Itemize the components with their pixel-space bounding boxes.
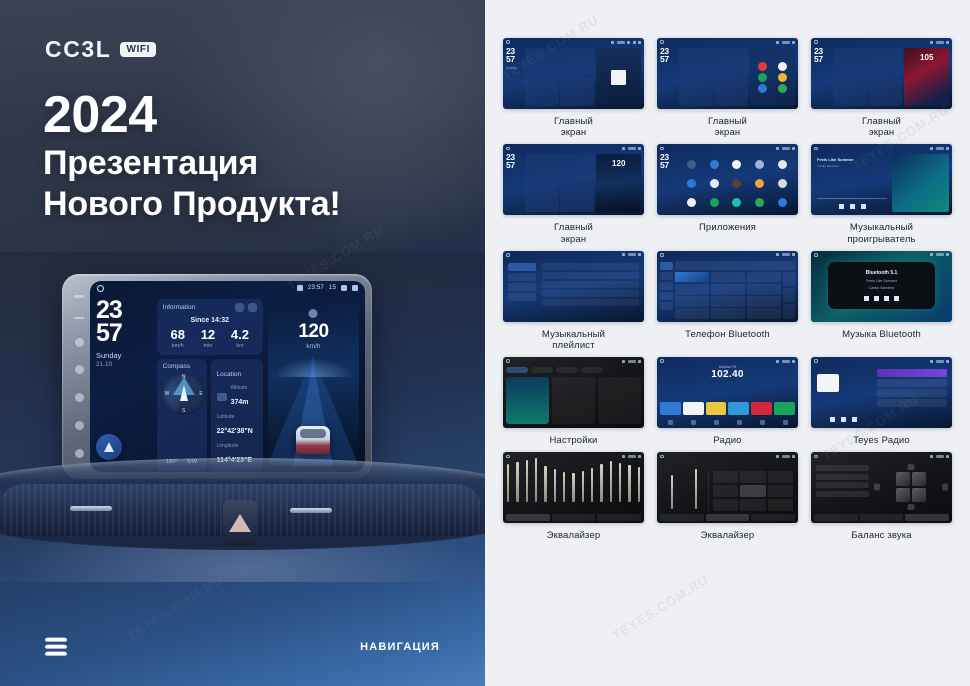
preset-5[interactable] — [751, 402, 772, 415]
thumbnail-home-drive-red[interactable]: 2357 105 — [811, 38, 952, 109]
preset-country[interactable] — [768, 499, 793, 511]
expand-icon[interactable] — [248, 303, 257, 312]
key-4[interactable] — [675, 284, 709, 295]
list-item[interactable] — [877, 389, 947, 397]
seat-rr[interactable] — [912, 488, 926, 502]
front-speaker-icon[interactable] — [907, 464, 914, 470]
music-player-icon[interactable] — [732, 198, 741, 207]
device-side-keys[interactable] — [69, 286, 89, 467]
thumbnail-radio[interactable]: Майами FM 102.40 — [657, 357, 798, 428]
compass-card — [833, 77, 867, 106]
mini-clock: 2357 — [660, 48, 677, 106]
store-icon[interactable] — [778, 73, 787, 82]
transport-controls[interactable] — [864, 296, 899, 301]
camera-icon[interactable] — [778, 160, 787, 169]
preset-6[interactable] — [774, 402, 795, 415]
brand-name: CC3L — [45, 36, 111, 63]
compass-card[interactable]: Compass N E S W — [157, 359, 207, 471]
key-3[interactable] — [747, 272, 781, 283]
browser-icon[interactable] — [778, 62, 787, 71]
gallery-item-label: Эквалайзер — [701, 530, 755, 541]
status-volume: 15 — [329, 285, 336, 291]
information-card-header: Information — [163, 303, 257, 312]
key-6[interactable] — [747, 284, 781, 295]
location-card[interactable]: Location Altitude 374m — [211, 359, 263, 471]
app-shortcuts[interactable] — [750, 48, 795, 106]
thumbnail-equalizer-presets[interactable] — [657, 452, 798, 523]
radio-presets[interactable] — [660, 402, 795, 415]
mini-body: 2357 — [657, 152, 798, 215]
settings-tabs[interactable] — [506, 367, 603, 373]
gallery-item[interactable]: Телефон Bluetooth — [657, 251, 798, 351]
thumbnail-playlist[interactable] — [503, 251, 644, 322]
eq-band[interactable] — [591, 468, 593, 502]
time-text — [782, 360, 790, 363]
thumbnail-home-drive[interactable]: 2357 120 — [503, 144, 644, 215]
preset-custom[interactable] — [740, 485, 765, 497]
gallery-item-label: Эквалайзер — [547, 530, 601, 541]
home-icon — [660, 40, 664, 44]
key-1[interactable] — [675, 272, 709, 283]
eq-band[interactable] — [516, 462, 518, 502]
information-card[interactable]: Information Since 14:32 68 — [157, 299, 263, 355]
home-icon — [814, 147, 818, 151]
chrome-icon[interactable] — [687, 179, 696, 188]
avin-icon[interactable] — [687, 160, 696, 169]
prev-key[interactable] — [75, 421, 84, 430]
gear-icon — [946, 147, 949, 150]
thumbnail-sound-balance[interactable] — [811, 452, 952, 523]
eq-band[interactable] — [526, 460, 528, 502]
refresh-icon[interactable] — [235, 303, 244, 312]
clock-widget[interactable]: 23 57 Sunday 21.10 — [96, 299, 152, 466]
station-list[interactable] — [875, 367, 949, 425]
radio-frequency: 102.40 — [657, 369, 798, 380]
time-text — [936, 455, 944, 458]
volume-down-key[interactable] — [74, 317, 84, 320]
gallery-item[interactable]: 2357Sunday Главный экран — [503, 38, 644, 138]
since-label: Since 14:32 — [163, 317, 257, 324]
phone-number-input[interactable] — [675, 261, 795, 270]
thumbnail-settings[interactable] — [503, 357, 644, 428]
compass-dial: N E S W — [163, 373, 205, 415]
list-item[interactable] — [877, 399, 947, 407]
transport-controls[interactable] — [817, 204, 887, 209]
bluetooth-icon[interactable] — [710, 160, 719, 169]
gear-icon — [792, 360, 795, 363]
tab-more[interactable] — [597, 514, 641, 521]
equalizer-tabs[interactable] — [506, 514, 641, 521]
filemanager-icon[interactable] — [755, 179, 764, 188]
thumbnail-home-apps[interactable]: 2357 — [657, 38, 798, 109]
tab-presets[interactable] — [706, 514, 750, 521]
home-icon — [506, 253, 510, 257]
thumbnail-equalizer[interactable] — [503, 452, 644, 523]
previous-icon[interactable] — [839, 204, 844, 209]
sidebar-item-albums[interactable] — [508, 273, 536, 281]
mini-widgets — [525, 154, 594, 212]
favorite-icon[interactable] — [783, 272, 795, 286]
location-card — [560, 77, 594, 106]
gear-icon — [946, 360, 949, 363]
thumbnail-home-media[interactable]: 2357Sunday — [503, 38, 644, 109]
seek-bar[interactable] — [817, 198, 887, 200]
key-star[interactable] — [675, 308, 709, 319]
pause-icon[interactable] — [850, 204, 855, 209]
balance-tabs[interactable] — [814, 514, 949, 521]
back-key[interactable] — [75, 393, 84, 402]
next-icon[interactable] — [894, 296, 899, 301]
preset-1[interactable] — [660, 402, 681, 415]
status-right-cluster: 23:57 15 — [297, 285, 358, 291]
more-card[interactable] — [598, 377, 641, 424]
eq-icon[interactable] — [737, 420, 742, 425]
gallery-item[interactable]: 2357 Главный экран — [657, 38, 798, 138]
thumbnail-bluetooth-phone[interactable] — [657, 251, 798, 322]
seat-fr[interactable] — [912, 472, 926, 486]
tab-balance[interactable] — [552, 514, 596, 521]
band-icon[interactable] — [668, 420, 673, 425]
home-icon — [506, 147, 510, 151]
car-3d-model — [296, 426, 330, 454]
sidebar-item-dialpad[interactable] — [660, 262, 673, 270]
key-9[interactable] — [747, 296, 781, 307]
location-card — [868, 77, 902, 106]
mini-widgets — [679, 48, 748, 106]
key-0[interactable] — [711, 308, 745, 319]
maps-icon[interactable] — [710, 198, 719, 207]
sidebar-item-tracks[interactable] — [508, 263, 536, 271]
gallery-item[interactable]: Bluetooth 5.1 Feels Like Summer Cardio S… — [811, 251, 952, 351]
speed-value: 120 — [268, 321, 359, 343]
altitude-label: Altitude — [231, 385, 249, 391]
compass-needle-icon — [180, 385, 188, 401]
preset-jazz[interactable] — [768, 471, 793, 483]
mini-status-bar — [811, 144, 952, 152]
wifi-icon — [622, 253, 625, 256]
status-icons — [622, 360, 641, 363]
gallery-item-label: Радио — [713, 435, 741, 446]
stop-icon[interactable] — [884, 296, 889, 301]
gallery-item-label: Телефон Bluetooth — [685, 329, 770, 340]
navigation-button[interactable] — [96, 434, 122, 460]
clock-date: 21.10 — [96, 361, 152, 368]
sidebar-item-search[interactable] — [660, 282, 673, 290]
gallery-item[interactable]: Музыкальный плейлист — [503, 251, 644, 351]
mini-status-bar — [811, 357, 952, 365]
gallery-item-label: Главный экран — [554, 222, 593, 244]
google-icon[interactable] — [687, 198, 696, 207]
contact-icon[interactable] — [710, 179, 719, 188]
wifi-icon — [930, 41, 933, 44]
equalizer-sliders[interactable] — [503, 452, 644, 511]
eq-band[interactable] — [582, 471, 584, 502]
gear-icon[interactable] — [341, 285, 347, 291]
right-speaker-icon[interactable] — [942, 484, 948, 491]
bluetooth-music-icon[interactable] — [732, 160, 741, 169]
rds-icon[interactable] — [760, 420, 765, 425]
information-actions[interactable] — [235, 303, 257, 312]
navigation-arrow-icon — [104, 442, 114, 452]
next-icon[interactable] — [852, 417, 857, 422]
search-icon[interactable] — [691, 420, 696, 425]
eq-band[interactable] — [554, 469, 556, 502]
mini-minutes: 57 — [814, 56, 831, 64]
headline-line-1: Презентация — [43, 143, 341, 184]
home-icon[interactable] — [97, 285, 104, 292]
key-hash[interactable] — [747, 308, 781, 319]
vent-slider-left[interactable] — [70, 506, 112, 511]
dialpad[interactable] — [675, 272, 781, 319]
mini-status-bar — [503, 38, 644, 46]
preset-pop[interactable] — [713, 471, 738, 483]
playlist-sidebar[interactable] — [506, 261, 538, 319]
fader-group[interactable] — [660, 470, 709, 512]
mini-status-bar — [503, 251, 644, 259]
mail-icon[interactable] — [758, 84, 767, 93]
tab-eq[interactable] — [660, 514, 704, 521]
next-icon[interactable] — [861, 204, 866, 209]
previous-icon[interactable] — [864, 296, 869, 301]
dvr-recorder-icon[interactable] — [732, 179, 741, 188]
phone-sidebar[interactable] — [660, 261, 673, 319]
tab-system[interactable] — [581, 367, 603, 373]
gear-icon — [633, 41, 636, 44]
seat-fl[interactable] — [896, 472, 910, 486]
thumbnail-music-player[interactable]: Feels Like Summer Cardio Sandrine — [811, 144, 952, 215]
social-icon[interactable] — [778, 198, 787, 207]
metric-distance-unit: km — [231, 343, 249, 349]
drive-assist-card: 105 — [904, 48, 949, 106]
gear-icon — [946, 253, 949, 256]
gallery-item[interactable]: Баланс звука — [811, 452, 952, 541]
wifi-icon — [930, 360, 933, 363]
power-key[interactable] — [75, 338, 84, 347]
call-icon[interactable] — [783, 304, 795, 318]
home-key[interactable] — [75, 365, 84, 374]
option-front[interactable] — [816, 465, 869, 471]
gallery-item[interactable]: Майами FM 102.40 Радио — [657, 357, 798, 446]
time-text — [936, 41, 944, 44]
seat-rl[interactable] — [896, 488, 910, 502]
rear-speaker-icon[interactable] — [907, 504, 914, 510]
youtube-icon[interactable] — [758, 62, 767, 71]
stop-icon[interactable] — [841, 417, 846, 422]
thumbnail-bluetooth-music[interactable]: Bluetooth 5.1 Feels Like Summer Cardio S… — [811, 251, 952, 322]
eq-band[interactable] — [572, 473, 574, 502]
track-list[interactable] — [540, 261, 641, 319]
key-2[interactable] — [711, 272, 745, 283]
back-icon[interactable] — [352, 285, 358, 291]
tab-eq[interactable] — [506, 514, 550, 521]
gear-icon — [638, 253, 641, 256]
time-text — [936, 360, 944, 363]
list-icon[interactable] — [714, 420, 719, 425]
balance-pad[interactable] — [873, 462, 949, 512]
fader-right[interactable] — [695, 469, 697, 509]
thumbnail-apps[interactable]: 2357 — [657, 144, 798, 215]
key-5[interactable] — [711, 284, 745, 295]
eq-band[interactable] — [638, 467, 640, 502]
play-pause-icon[interactable] — [874, 296, 879, 301]
preset-3[interactable] — [706, 402, 727, 415]
list-item[interactable] — [542, 263, 639, 270]
tab-more[interactable] — [751, 514, 795, 521]
balance-options[interactable] — [814, 462, 871, 512]
eq-band[interactable] — [563, 472, 565, 502]
hero-footer: НАВИГАЦИЯ — [0, 637, 485, 656]
time-text — [782, 147, 790, 150]
brand-logo: CC3L WIFI — [45, 36, 156, 63]
preset-grid[interactable] — [711, 470, 795, 512]
information-title: Information — [163, 304, 196, 311]
transport-controls[interactable] — [817, 417, 870, 422]
headline-year: 2024 — [43, 88, 341, 143]
list-item[interactable] — [877, 379, 947, 387]
now-playing-panel — [814, 367, 873, 425]
back-icon — [638, 41, 641, 44]
media-card — [596, 48, 641, 106]
mini-row — [679, 77, 748, 106]
gallery-item[interactable]: 2357 105 Главный экран — [811, 38, 952, 138]
previous-icon[interactable] — [830, 417, 835, 422]
option-rear[interactable] — [816, 474, 869, 480]
settings-cards[interactable] — [506, 377, 641, 424]
radio-tuner: Майами FM 102.40 — [657, 365, 798, 380]
backspace-icon[interactable] — [783, 288, 795, 302]
gallery-item[interactable]: Настройки — [503, 357, 644, 446]
next-key[interactable] — [75, 449, 84, 458]
eq-band[interactable] — [535, 458, 537, 502]
mini-widgets — [833, 48, 902, 106]
call-actions[interactable] — [783, 272, 795, 319]
preset-vocal[interactable] — [768, 485, 793, 497]
eq-band[interactable] — [628, 465, 630, 502]
gallery-item[interactable]: Эквалайзер — [657, 452, 798, 541]
tab-sound[interactable] — [531, 367, 553, 373]
tab-balance[interactable] — [905, 514, 949, 521]
head-unit-device: 23:57 15 23 57 Sunday 21.10 — [62, 274, 372, 479]
gallery-item[interactable]: Feels Like Summer Cardio Sandrine Музыка… — [811, 144, 952, 244]
mini-minutes: 57 — [506, 56, 523, 64]
status-icons — [930, 253, 949, 256]
time-text — [936, 253, 944, 256]
wifi-card[interactable] — [506, 377, 549, 424]
left-speaker-icon[interactable] — [874, 484, 880, 491]
home-icon — [660, 455, 664, 459]
eq-band[interactable] — [619, 463, 621, 502]
vent-slider-right[interactable] — [290, 508, 332, 513]
status-icons — [930, 41, 949, 44]
settings-icon[interactable] — [783, 420, 788, 425]
compass-dir-e: E — [199, 391, 202, 397]
play-icon[interactable] — [778, 84, 787, 93]
sidebar-item-history[interactable] — [660, 292, 673, 300]
key-8[interactable] — [711, 296, 745, 307]
sidebar-item-artists[interactable] — [508, 283, 536, 291]
mini-widgets — [525, 48, 594, 106]
mini-body: 2357 — [657, 46, 798, 109]
list-item[interactable] — [542, 272, 639, 279]
bluetooth-version: Bluetooth 5.1 — [866, 270, 898, 276]
tab-eq[interactable] — [814, 514, 858, 521]
eq-band[interactable] — [610, 461, 612, 502]
mini-minutes: 57 — [660, 56, 677, 64]
mini-player-bar[interactable] — [542, 299, 639, 306]
sidebar-item-settings[interactable] — [660, 302, 673, 310]
tab-presets[interactable] — [860, 514, 904, 521]
list-item[interactable] — [542, 290, 639, 297]
head-unit-screen[interactable]: 23:57 15 23 57 Sunday 21.10 — [90, 281, 365, 472]
wifi-icon — [930, 147, 933, 150]
mini-body — [811, 365, 952, 428]
gallery-item[interactable]: 2357 120 Главный экран — [503, 144, 644, 244]
equalizer-tabs[interactable] — [660, 514, 795, 521]
gallery-icon[interactable] — [778, 179, 787, 188]
list-item[interactable] — [877, 369, 947, 377]
list-item[interactable] — [542, 281, 639, 288]
preset-2[interactable] — [683, 402, 704, 415]
option-left[interactable] — [816, 482, 869, 488]
eq-band[interactable] — [544, 466, 546, 502]
tab-wifi[interactable] — [506, 367, 528, 373]
sidebar-item-folders[interactable] — [508, 293, 536, 301]
status-time: 23:57 — [308, 285, 324, 291]
key-7[interactable] — [675, 296, 709, 307]
maps-icon[interactable] — [758, 73, 767, 82]
fader-left[interactable] — [671, 475, 673, 509]
play-store-icon[interactable] — [755, 198, 764, 207]
traffic-card[interactable] — [552, 377, 595, 424]
preset-4[interactable] — [728, 402, 749, 415]
preset-rock[interactable] — [740, 471, 765, 483]
sidebar-item-contacts[interactable] — [660, 272, 673, 280]
preset-dance[interactable] — [740, 499, 765, 511]
mini-status-bar — [657, 144, 798, 152]
speed-icon — [309, 309, 318, 318]
status-icons — [776, 147, 795, 150]
gallery-item[interactable]: Эквалайзер — [503, 452, 644, 541]
location-title: Location — [217, 371, 242, 378]
option-right[interactable] — [816, 491, 869, 497]
gear-icon — [946, 455, 949, 458]
hazard-light-button[interactable] — [223, 500, 257, 546]
seat-grid[interactable] — [896, 472, 926, 502]
mini-body: 2357 120 — [503, 152, 644, 215]
gallery-item[interactable]: 2357 — [657, 144, 798, 244]
calculator-icon[interactable] — [755, 160, 764, 169]
volume-up-key[interactable] — [74, 295, 84, 298]
radio-toolbar[interactable] — [660, 419, 795, 426]
gallery-item-label: Музыкальный проигрыватель — [847, 222, 915, 244]
gallery-item-label: Главный экран — [708, 116, 747, 138]
eq-band[interactable] — [600, 464, 602, 502]
metric-time-unit: min — [201, 343, 215, 349]
time-text — [628, 253, 636, 256]
preset-classic[interactable] — [713, 485, 738, 497]
app-drawer-grid[interactable] — [679, 154, 795, 212]
eq-band[interactable] — [507, 464, 509, 502]
time-text — [628, 455, 636, 458]
wifi-icon — [297, 285, 303, 291]
thumbnail-teyes-radio[interactable] — [811, 357, 952, 428]
wifi-icon — [776, 41, 779, 44]
status-icons — [622, 253, 641, 256]
drive-assist-card[interactable]: 120 km/h — [268, 299, 359, 466]
preset-bass[interactable] — [713, 499, 738, 511]
gallery-item[interactable]: Teyes Радио — [811, 357, 952, 446]
tab-display[interactable] — [556, 367, 578, 373]
